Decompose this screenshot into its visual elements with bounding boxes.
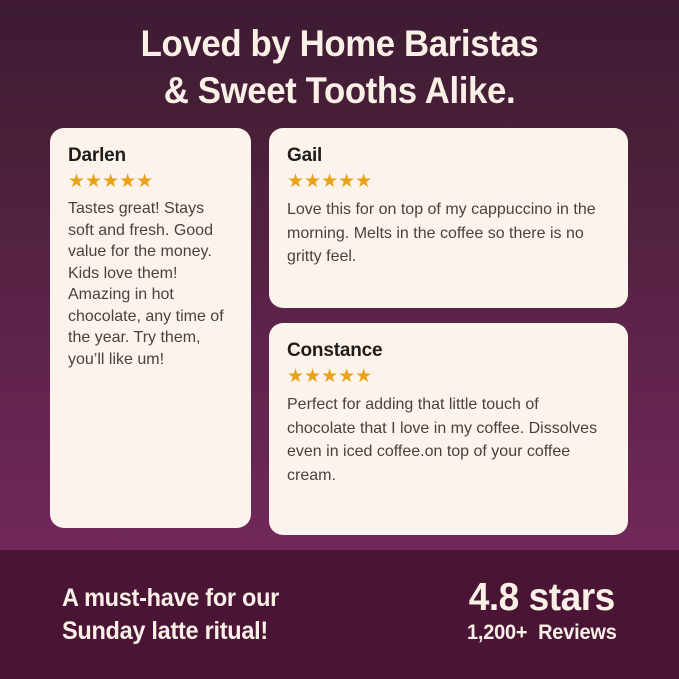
review-text: Perfect for adding that little touch of … <box>287 393 610 487</box>
page-title: Loved by Home Baristas & Sweet Tooths Al… <box>20 20 658 114</box>
rating-review-count: 1,200+ Reviews <box>467 620 617 646</box>
headline-line-2: & Sweet Tooths Alike. <box>20 67 658 114</box>
reviewer-name: Gail <box>287 145 610 167</box>
review-text: Love this for on top of my cappuccino in… <box>287 198 610 269</box>
review-promo-banner: Loved by Home Baristas & Sweet Tooths Al… <box>0 0 679 679</box>
reviewer-name: Constance <box>287 340 610 362</box>
footer-quote-line-1: A must-have for our <box>62 582 372 615</box>
star-rating-icon: ★★★★★ <box>287 171 610 192</box>
reviews-column-left: Darlen ★★★★★ Tastes great! Stays soft an… <box>50 128 251 528</box>
review-card-gail: Gail ★★★★★ Love this for on top of my ca… <box>269 128 628 308</box>
star-rating-icon: ★★★★★ <box>287 366 610 387</box>
rating-score: 4.8 stars <box>467 576 617 620</box>
footer-quote-line-2: Sunday latte ritual! <box>62 615 372 648</box>
reviewer-name: Darlen <box>68 145 233 167</box>
reviews-column-right: Gail ★★★★★ Love this for on top of my ca… <box>269 128 628 535</box>
headline-line-1: Loved by Home Baristas <box>20 20 658 67</box>
review-card-constance: Constance ★★★★★ Perfect for adding that … <box>269 323 628 535</box>
review-text: Tastes great! Stays soft and fresh. Good… <box>68 198 233 370</box>
reviews-grid: Darlen ★★★★★ Tastes great! Stays soft an… <box>50 128 628 536</box>
star-rating-icon: ★★★★★ <box>68 171 233 192</box>
footer-quote: A must-have for our Sunday latte ritual! <box>62 582 372 648</box>
review-card-darlen: Darlen ★★★★★ Tastes great! Stays soft an… <box>50 128 251 528</box>
footer-bar: A must-have for our Sunday latte ritual!… <box>0 550 679 679</box>
aggregate-rating: 4.8 stars 1,200+ Reviews <box>463 576 621 646</box>
